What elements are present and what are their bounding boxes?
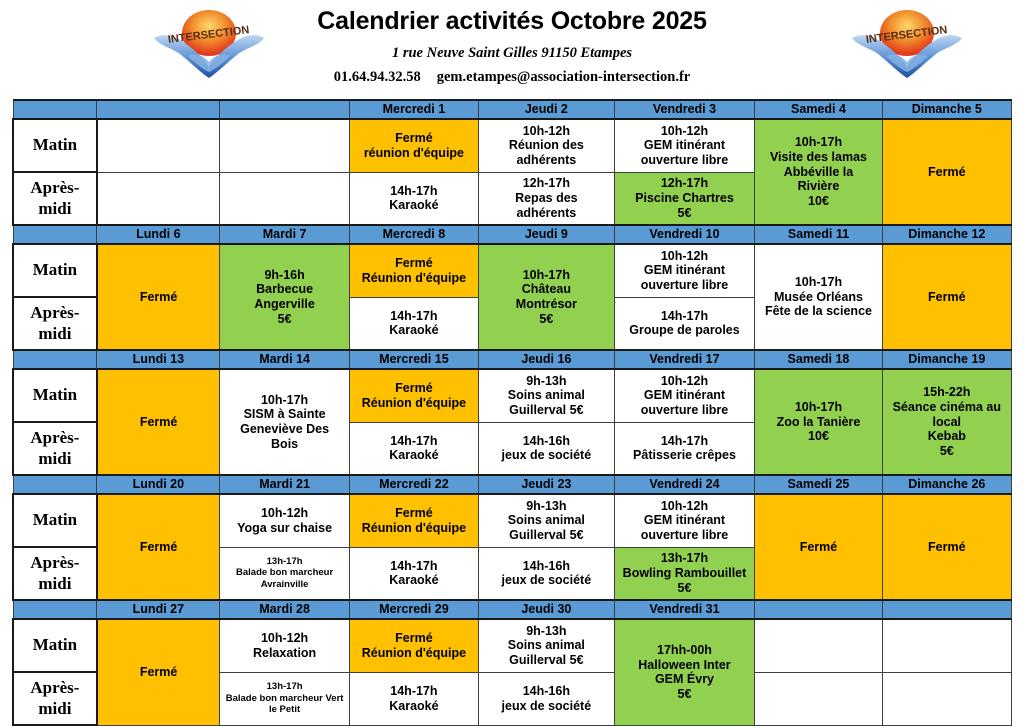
matin-row: MatinFermé10h-12hRelaxationFerméRéunion …: [13, 619, 1012, 672]
activity-cell: [97, 172, 220, 225]
activity-cell: 13h-17hBowling Rambouillet5€: [614, 547, 755, 600]
activity-text: 10h-12hGEM itinérantouverture libre: [615, 499, 755, 543]
org-address: 1 rue Neuve Saint Gilles 91150 Etampes: [202, 45, 822, 62]
day-header-4[interactable]: Jeudi 30: [479, 600, 615, 619]
activity-cell: [220, 172, 349, 225]
matin-row: MatinFerméréunion d'équipe10h-12hRéunion…: [13, 119, 1012, 172]
week-header-row: Lundi 6Mardi 7Mercredi 8Jeudi 9Vendredi …: [13, 225, 1012, 244]
activity-cell: 10h-17hZoo la Tanière10€: [755, 369, 882, 475]
activity-text: FerméRéunion d'équipe: [350, 381, 478, 411]
matin-row: MatinFermé10h-12hYoga sur chaiseFerméRéu…: [13, 494, 1012, 547]
page-title: Calendrier activités Octobre 2025: [202, 8, 822, 36]
row-label-apres-midi: Après-midi: [13, 547, 97, 600]
activity-text: 13h-17hBalade bon marcheur Vertle Petit: [220, 681, 348, 716]
activity-cell: FerméRéunion d'équipe: [349, 494, 478, 547]
activity-cell: [755, 619, 882, 672]
activity-cell: Fermé: [97, 494, 220, 600]
activity-cell: 10h-17hMusée OrléansFête de la science: [755, 244, 882, 350]
calendar-table-wrapper: Mercredi 1Jeudi 2Vendredi 3Samedi 4Diman…: [12, 99, 1012, 726]
day-header-7[interactable]: Dimanche 12: [882, 225, 1011, 244]
activity-text: Fermé: [98, 290, 220, 305]
activity-cell: 10h-12hGEM itinérantouverture libre: [614, 369, 755, 422]
activity-cell: 14h-16hjeux de société: [479, 672, 615, 725]
day-header-4[interactable]: Jeudi 2: [479, 100, 615, 119]
activity-cell: Fermé: [882, 244, 1011, 350]
activity-cell: 13h-17hBalade bon marcheur Vertle Petit: [220, 672, 349, 725]
row-label-matin: Matin: [13, 619, 97, 672]
activity-text: 10h-17hVisite des lamasAbbéville laRiviè…: [755, 135, 881, 209]
activity-cell: 14h-17hKaraoké: [349, 672, 478, 725]
activity-cell: 12h-17hPiscine Chartres5€: [614, 172, 755, 225]
activity-text: 9h-13hSoins animalGuillerval 5€: [479, 624, 614, 668]
activity-cell: 17hh-00hHalloween InterGEM Évry5€: [614, 619, 755, 725]
day-header-2[interactable]: [220, 100, 349, 119]
activity-cell: Fermé: [97, 619, 220, 725]
activity-text: 14h-16hjeux de société: [479, 434, 614, 464]
activity-text: Fermé: [98, 415, 220, 430]
row-label-apres-midi: Après-midi: [13, 672, 97, 725]
email-address: gem.etampes@association-intersection.fr: [437, 69, 690, 85]
activity-cell: 15h-22hSéance cinéma aulocalKebab5€: [882, 369, 1011, 475]
activity-cell: [882, 619, 1011, 672]
activity-text: FerméRéunion d'équipe: [350, 506, 478, 536]
day-header-2[interactable]: Mardi 7: [220, 225, 349, 244]
day-header-7[interactable]: Dimanche 19: [882, 350, 1011, 369]
activity-text: 13h-17hBalade bon marcheurAvrainville: [220, 556, 348, 591]
activity-text: Fermé: [98, 665, 220, 680]
week-header-row: Lundi 27Mardi 28Mercredi 29Jeudi 30Vendr…: [13, 600, 1012, 619]
day-header-3[interactable]: Mercredi 22: [349, 475, 478, 494]
activity-text: 10h-12hRelaxation: [220, 631, 348, 661]
activity-text: 10h-17hMusée OrléansFête de la science: [755, 275, 881, 319]
activity-cell: 14h-17hGroupe de paroles: [614, 297, 755, 350]
activity-cell: [220, 119, 349, 172]
activity-text: Fermé: [883, 165, 1011, 180]
day-header-6[interactable]: Samedi 4: [755, 100, 882, 119]
activity-cell: 10h-12hRelaxation: [220, 619, 349, 672]
activity-cell: Fermé: [882, 494, 1011, 600]
day-header-1[interactable]: [97, 100, 220, 119]
activity-cell: [882, 672, 1011, 725]
activity-text: 10h-12hYoga sur chaise: [220, 506, 348, 536]
day-header-5[interactable]: Vendredi 17: [614, 350, 755, 369]
day-header-7[interactable]: [882, 600, 1011, 619]
activity-cell: 10h-12hGEM itinérantouverture libre: [614, 244, 755, 297]
row-label-apres-midi: Après-midi: [13, 172, 97, 225]
activity-cell: 10h-17hChâteauMontrésor5€: [479, 244, 615, 350]
activity-text: 14h-17hKaraoké: [350, 684, 478, 714]
day-header-2[interactable]: Mardi 28: [220, 600, 349, 619]
activity-text: 14h-17hKaraoké: [350, 559, 478, 589]
org-contact: 01.64.94.32.58gem.etampes@association-in…: [202, 69, 822, 86]
day-header-2[interactable]: Mardi 14: [220, 350, 349, 369]
day-header-6[interactable]: [755, 600, 882, 619]
row-label-matin: Matin: [13, 369, 97, 422]
activity-text: 13h-17hBowling Rambouillet5€: [615, 551, 755, 595]
row-label-apres-midi: Après-midi: [13, 297, 97, 350]
week-header-corner: [13, 600, 97, 619]
activity-text: 14h-17hKaraoké: [350, 309, 478, 339]
activities-calendar: Mercredi 1Jeudi 2Vendredi 3Samedi 4Diman…: [12, 99, 1012, 726]
day-header-5[interactable]: Vendredi 31: [614, 600, 755, 619]
activity-text: 17hh-00hHalloween InterGEM Évry5€: [615, 643, 755, 702]
activity-cell: Fermé: [755, 494, 882, 600]
intersection-logo-left: INTERSECTION: [148, 6, 270, 86]
row-label-matin: Matin: [13, 119, 97, 172]
activity-text: 10h-12hGEM itinérantouverture libre: [615, 124, 755, 168]
activity-cell: 9h-13hSoins animalGuillerval 5€: [479, 494, 615, 547]
activity-cell: 14h-17hKaraoké: [349, 422, 478, 475]
activity-text: FerméRéunion d'équipe: [350, 256, 478, 286]
day-header-3[interactable]: Mercredi 1: [349, 100, 478, 119]
activity-text: Ferméréunion d'équipe: [350, 131, 478, 161]
day-header-1[interactable]: Lundi 20: [97, 475, 220, 494]
activity-text: 14h-17hKaraoké: [350, 184, 478, 214]
day-header-6[interactable]: Samedi 25: [755, 475, 882, 494]
activity-text: 14h-16hjeux de société: [479, 559, 614, 589]
activity-cell: 14h-17hKaraoké: [349, 297, 478, 350]
day-header-3[interactable]: Mercredi 15: [349, 350, 478, 369]
activity-cell: 9h-13hSoins animalGuillerval 5€: [479, 369, 615, 422]
activity-cell: 10h-17hSISM à SainteGeneviève DesBois: [220, 369, 349, 475]
day-header-3[interactable]: Mercredi 29: [349, 600, 478, 619]
calendar-page: INTERSECTION Calendrier activités Octobr…: [0, 0, 1024, 716]
activity-cell: Fermé: [882, 119, 1011, 225]
activity-text: FerméRéunion d'équipe: [350, 631, 478, 661]
activity-text: 12h-17hPiscine Chartres5€: [615, 176, 755, 220]
activity-text: 14h-16hjeux de société: [479, 684, 614, 714]
row-label-matin: Matin: [13, 494, 97, 547]
activity-text: Fermé: [883, 290, 1011, 305]
activity-text: Fermé: [98, 540, 220, 555]
activity-cell: Fermé: [97, 369, 220, 475]
week-header-corner: [13, 225, 97, 244]
week-header-row: Mercredi 1Jeudi 2Vendredi 3Samedi 4Diman…: [13, 100, 1012, 119]
week-header-corner: [13, 475, 97, 494]
activity-cell: Fermé: [97, 244, 220, 350]
day-header-1[interactable]: Lundi 27: [97, 600, 220, 619]
activity-cell: [97, 119, 220, 172]
activity-text: Fermé: [883, 540, 1011, 555]
day-header-4[interactable]: Jeudi 23: [479, 475, 615, 494]
matin-row: MatinFermé10h-17hSISM à SainteGeneviève …: [13, 369, 1012, 422]
activity-cell: 9h-13hSoins animalGuillerval 5€: [479, 619, 615, 672]
activity-cell: 14h-17hPâtisserie crêpes: [614, 422, 755, 475]
activity-text: 9h-13hSoins animalGuillerval 5€: [479, 374, 614, 418]
activity-cell: 9h-16hBarbecueAngerville5€: [220, 244, 349, 350]
day-header-5[interactable]: Vendredi 3: [614, 100, 755, 119]
activity-text: 10h-17hSISM à SainteGeneviève DesBois: [220, 393, 348, 452]
activity-cell: 14h-17hKaraoké: [349, 172, 478, 225]
activity-text: 14h-17hPâtisserie crêpes: [615, 434, 755, 464]
activity-text: 14h-17hKaraoké: [350, 434, 478, 464]
activity-cell: 14h-16hjeux de société: [479, 422, 615, 475]
activity-text: 10h-12hRéunion desadhérents: [479, 124, 614, 168]
day-header-4[interactable]: Jeudi 9: [479, 225, 615, 244]
week-header-corner: [13, 100, 97, 119]
day-header-5[interactable]: Vendredi 24: [614, 475, 755, 494]
activity-text: Fermé: [755, 540, 881, 555]
day-header-6[interactable]: Samedi 11: [755, 225, 882, 244]
activity-text: 15h-22hSéance cinéma aulocalKebab5€: [883, 385, 1011, 459]
activity-cell: [755, 672, 882, 725]
day-header-1[interactable]: Lundi 6: [97, 225, 220, 244]
activity-text: 10h-17hZoo la Tanière10€: [755, 400, 881, 444]
day-header-5[interactable]: Vendredi 10: [614, 225, 755, 244]
week-header-row: Lundi 20Mardi 21Mercredi 22Jeudi 23Vendr…: [13, 475, 1012, 494]
activity-text: 10h-17hChâteauMontrésor5€: [479, 268, 614, 327]
title-block: Calendrier activités Octobre 2025 1 rue …: [202, 0, 822, 86]
activity-cell: 10h-12hRéunion desadhérents: [479, 119, 615, 172]
day-header-4[interactable]: Jeudi 16: [479, 350, 615, 369]
activity-text: 9h-16hBarbecueAngerville5€: [220, 268, 348, 327]
activity-text: 14h-17hGroupe de paroles: [615, 309, 755, 339]
activity-text: 10h-12hGEM itinérantouverture libre: [615, 249, 755, 293]
activity-cell: 14h-16hjeux de société: [479, 547, 615, 600]
activity-cell: FerméRéunion d'équipe: [349, 244, 478, 297]
page-header: INTERSECTION Calendrier activités Octobr…: [0, 0, 1024, 92]
activity-text: 12h-17hRepas desadhérents: [479, 176, 614, 220]
week-header-corner: [13, 350, 97, 369]
day-header-7[interactable]: Dimanche 5: [882, 100, 1011, 119]
day-header-6[interactable]: Samedi 18: [755, 350, 882, 369]
day-header-7[interactable]: Dimanche 26: [882, 475, 1011, 494]
activity-cell: 10h-12hGEM itinérantouverture libre: [614, 494, 755, 547]
activity-cell: 12h-17hRepas desadhérents: [479, 172, 615, 225]
activity-cell: FerméRéunion d'équipe: [349, 369, 478, 422]
row-label-apres-midi: Après-midi: [13, 422, 97, 475]
activity-cell: 10h-12hGEM itinérantouverture libre: [614, 119, 755, 172]
activity-text: 10h-12hGEM itinérantouverture libre: [615, 374, 755, 418]
phone-number: 01.64.94.32.58: [334, 69, 421, 85]
day-header-2[interactable]: Mardi 21: [220, 475, 349, 494]
activity-text: 9h-13hSoins animalGuillerval 5€: [479, 499, 614, 543]
activity-cell: 10h-17hVisite des lamasAbbéville laRiviè…: [755, 119, 882, 225]
day-header-1[interactable]: Lundi 13: [97, 350, 220, 369]
row-label-matin: Matin: [13, 244, 97, 297]
activity-cell: Ferméréunion d'équipe: [349, 119, 478, 172]
week-header-row: Lundi 13Mardi 14Mercredi 15Jeudi 16Vendr…: [13, 350, 1012, 369]
activity-cell: 14h-17hKaraoké: [349, 547, 478, 600]
activity-cell: 13h-17hBalade bon marcheurAvrainville: [220, 547, 349, 600]
activity-cell: 10h-12hYoga sur chaise: [220, 494, 349, 547]
day-header-3[interactable]: Mercredi 8: [349, 225, 478, 244]
activity-cell: FerméRéunion d'équipe: [349, 619, 478, 672]
intersection-logo-right: INTERSECTION: [846, 6, 968, 86]
matin-row: MatinFermé9h-16hBarbecueAngerville5€Ferm…: [13, 244, 1012, 297]
